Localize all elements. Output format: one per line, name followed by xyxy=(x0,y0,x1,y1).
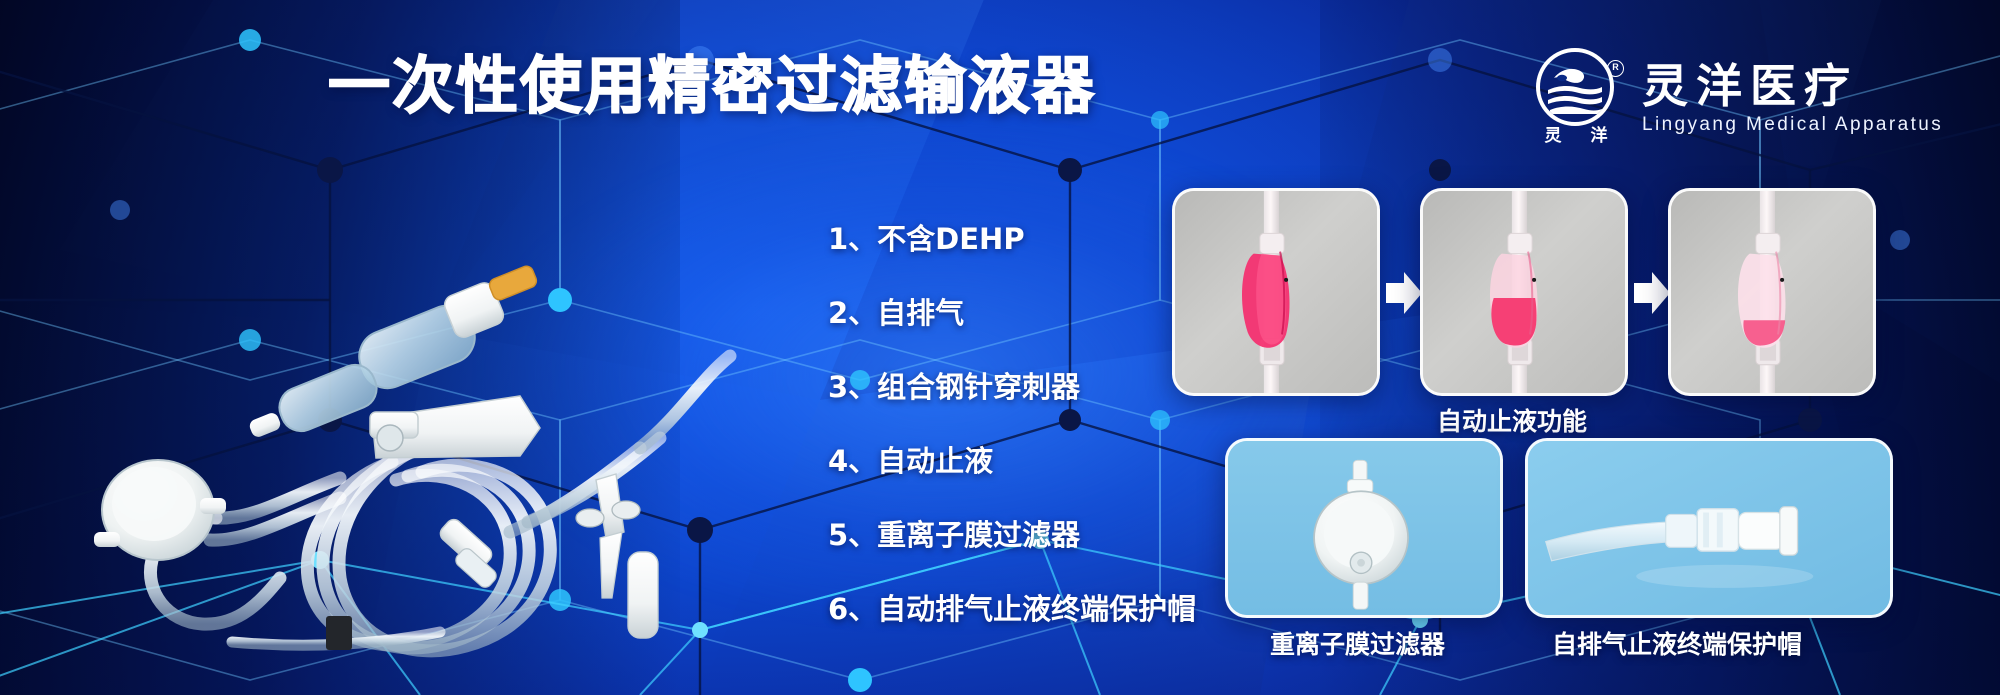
feature-item-3: 3、组合钢针穿刺器 xyxy=(828,373,1196,402)
feature-item-2: 2、自排气 xyxy=(828,299,1196,328)
product-flow-regulator xyxy=(437,516,499,590)
photo-drip-chamber-half xyxy=(1420,188,1628,396)
registered-trademark-icon: R xyxy=(1607,60,1624,77)
feature-item-5: 5、重离子膜过滤器 xyxy=(828,521,1196,550)
photo-drip-chamber-full xyxy=(1172,188,1380,396)
feature-item-1: 1、不含DEHP xyxy=(828,225,1196,254)
logo-emblem: R 灵 洋 xyxy=(1530,48,1622,148)
caption-self-venting-terminal-cap: 自排气止液终端保护帽 xyxy=(1552,625,1802,661)
arrow-right-icon-1 xyxy=(1384,270,1424,316)
brand-name-en: Lingyang Medical Apparatus xyxy=(1642,115,1943,134)
page-title: 一次性使用精密过滤输液器 xyxy=(328,55,1096,117)
feature-item-6: 6、自动排气止液终端保护帽 xyxy=(828,595,1196,624)
brand-name-cn: 灵洋医疗 xyxy=(1642,62,1943,110)
logo-char-ling: 灵 xyxy=(1545,128,1562,145)
feature-item-4: 4、自动止液 xyxy=(828,447,1196,476)
logo-emblem-characters: 灵 洋 xyxy=(1530,128,1622,145)
product-banner: 一次性使用精密过滤输液器 R 灵 洋 xyxy=(0,0,2000,695)
photo-heavy-ion-membrane-filter xyxy=(1225,438,1503,618)
logo-wordmark: 灵洋医疗 Lingyang Medical Apparatus xyxy=(1642,62,1943,133)
product-photo-infusion-set xyxy=(40,180,780,660)
arrow-right-icon-2 xyxy=(1632,270,1672,316)
caption-auto-stop-function: 自动止液功能 xyxy=(1437,402,1587,438)
photo-drip-chamber-stopped xyxy=(1668,188,1876,396)
logo-char-yang: 洋 xyxy=(1591,128,1608,145)
logo-circle-icon xyxy=(1536,48,1614,126)
product-roller-clamp xyxy=(370,396,540,458)
feature-list: 1、不含DEHP 2、自排气 3、组合钢针穿刺器 4、自动止液 5、重离子膜过滤… xyxy=(828,225,1196,624)
brand-logo: R 灵 洋 灵洋医疗 Lingyang Medical Apparatus xyxy=(1530,48,1943,148)
photo-self-venting-terminal-cap xyxy=(1525,438,1893,618)
caption-heavy-ion-membrane-filter: 重离子膜过滤器 xyxy=(1270,625,1445,661)
